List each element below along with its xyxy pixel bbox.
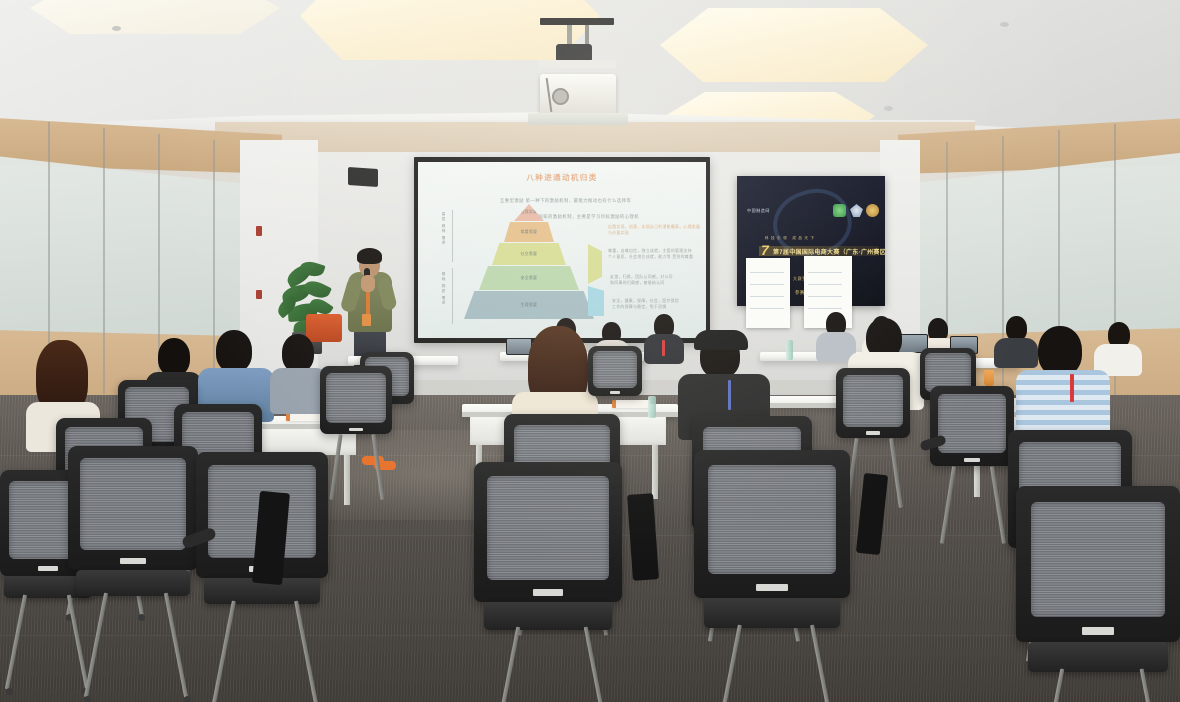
slide-note-1: 自我实现，创意，实现自己的潜能最高，心理发展 与价值实现 — [608, 224, 700, 235]
slide-pyramid-chart: 自我实现 尊重需要 社交需要 安全需要 生理需要 — [470, 204, 588, 324]
fire-alarm-icon — [256, 290, 262, 299]
pyramid-layer-4: 尊重需要 — [504, 222, 554, 242]
chair-front-row[interactable] — [68, 446, 198, 570]
attendee-lanyard — [662, 340, 665, 356]
smoke-detector-icon — [112, 26, 121, 31]
attendee-head — [158, 338, 190, 376]
slide-title: 八种进通动机归类 — [418, 172, 706, 183]
pyramid-layer-5: 自我实现 — [514, 204, 544, 221]
water-bottle — [648, 396, 656, 418]
chair-front-row[interactable] — [1016, 486, 1180, 642]
presenter-hair — [357, 248, 382, 264]
slide-axis-label-upper: 高层 精神 需求 — [442, 212, 447, 245]
wall-speaker-icon — [348, 167, 378, 187]
slide-note-3: 友谊，归属，团队认同感，对公司 和同事的归属感，被接纳认同 — [610, 274, 673, 285]
hex-light-panel-left — [30, 0, 280, 34]
chair-row-3[interactable] — [320, 366, 392, 434]
flipchart-pad-left — [746, 258, 790, 328]
attendee-lanyard — [728, 380, 731, 410]
pyramid-layer-1: 生理需要 — [464, 291, 594, 319]
accent-chair-orange — [306, 314, 342, 342]
banner-headline: 第7届中国国际电商大赛（广东·广州赛区） — [773, 247, 885, 256]
slide-axis-lower — [452, 268, 453, 324]
projector-mount-plate — [540, 18, 614, 25]
hex-light-panel-mid — [660, 8, 928, 82]
banner-tagline: 科技引领 成品天下 — [765, 236, 816, 241]
slide-side-block-green — [588, 244, 602, 284]
slide-axis-upper — [452, 210, 453, 262]
hex-light-panel-large — [300, 0, 600, 60]
chair-row-3[interactable] — [930, 386, 1014, 466]
chair-row-3[interactable] — [836, 368, 910, 438]
back-wall-wood-band — [215, 122, 975, 152]
cap-icon — [694, 330, 748, 350]
presenter-hand — [361, 275, 375, 292]
smoke-detector-icon — [1000, 22, 1009, 27]
attendee-torso — [994, 338, 1038, 368]
partition-mullion — [213, 140, 215, 390]
chair-front-row[interactable] — [694, 450, 850, 598]
pyramid-layer-3: 社交需要 — [492, 243, 566, 265]
drink-cup — [984, 370, 994, 386]
medal-badge-icon — [866, 204, 879, 217]
presenter-lanyard — [366, 288, 370, 316]
slide-side-block-blue — [588, 286, 604, 316]
attendee-lanyard — [1070, 374, 1074, 402]
attendee-head — [1038, 326, 1082, 376]
partition-mullion — [103, 128, 105, 394]
shield-badge-icon — [850, 204, 863, 217]
leaf-badge-icon — [833, 204, 846, 217]
chair-back-row[interactable] — [588, 346, 642, 396]
banner-brand-text: 中国制造网 — [747, 208, 770, 214]
fire-alarm-icon — [256, 226, 262, 236]
slide-note-2: 尊重，自尊自信，独立成就，主管的管理支持 个人意愿，社会地位成就，能力等 受到的… — [608, 248, 693, 259]
attendee-head — [216, 330, 252, 372]
projector-top-plate — [538, 60, 616, 68]
notepad — [612, 400, 650, 408]
banner-numeral: 7 — [761, 242, 769, 258]
training-room-photo: 八种进通动机归类 互惠型激励 第一种下的激励机制，最能力推动也有什么选择等 第二… — [0, 0, 1180, 702]
attendee-head — [282, 334, 314, 372]
slide-axis-label-lower: 基础 物质 需求 — [442, 272, 447, 305]
water-bottle — [786, 340, 793, 360]
projection-screen-surface: 八种进通动机归类 互惠型激励 第一种下的激励机制，最能力推动也有什么选择等 第二… — [418, 162, 706, 338]
smoke-detector-icon — [884, 106, 893, 111]
projector-lens-icon — [552, 88, 569, 105]
presenter-badge — [362, 314, 371, 326]
slide-note-4: 安全，健康，保障，社会，医疗保险 工作的保障与稳定，免于恐惧 — [612, 298, 679, 309]
pyramid-layer-2: 安全需要 — [479, 266, 579, 290]
chair-front-row[interactable] — [474, 462, 622, 602]
projector-base-tray — [528, 113, 628, 125]
